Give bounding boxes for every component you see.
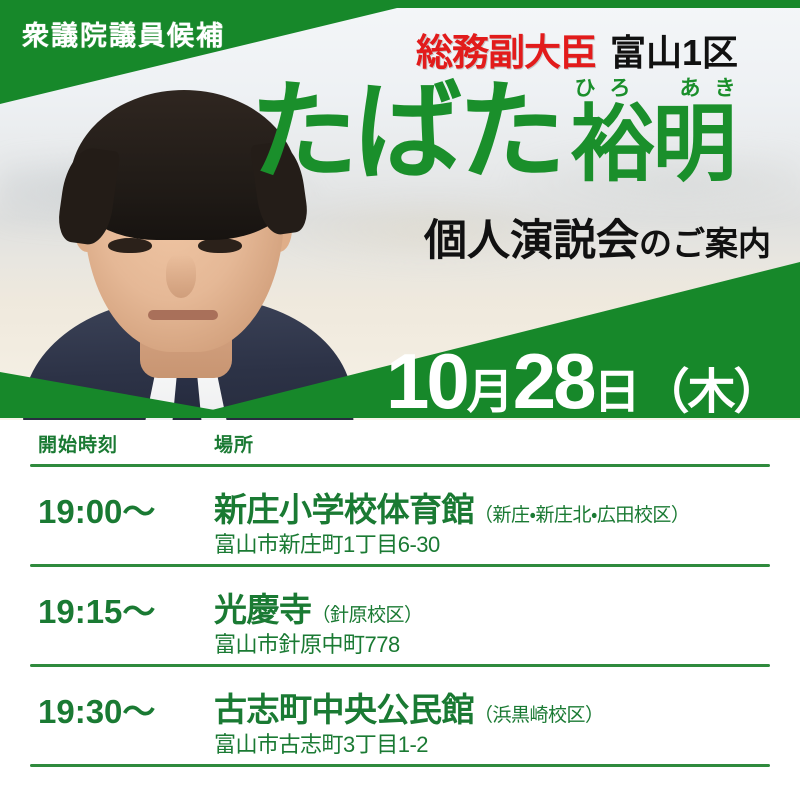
schedule-row-address: 富山市新庄町1丁目6-30 <box>214 527 440 559</box>
portrait-eye-left <box>108 238 152 253</box>
schedule-row-address: 富山市古志町3丁目1-2 <box>214 727 428 759</box>
schedule-row-venue-name: 光慶寺 <box>214 591 312 628</box>
schedule-divider <box>30 764 770 767</box>
schedule-row-venue-area: （浜黒崎校区） <box>474 705 604 726</box>
campaign-poster: 衆議院議員候補 総務副大臣 富山1区 たばた ひろ あき 裕明 個人演説会のご案… <box>0 0 800 800</box>
portrait-nose <box>166 254 196 298</box>
post-and-district: 総務副大臣 富山1区 <box>416 22 738 76</box>
table-row: 19:15〜 光慶寺（針原校区） 富山市針原中町778 <box>0 567 800 664</box>
schedule-row-time: 19:00〜 <box>38 485 155 533</box>
candidate-name-kanji: 裕明 <box>570 102 734 186</box>
candidate-name-kanji-block: ひろ あき 裕明 <box>570 78 734 186</box>
candidate-name-furigana: ひろ あき <box>574 72 749 102</box>
green-top-edge-strip <box>0 0 800 8</box>
event-date: 10月28日（木） <box>386 342 780 420</box>
schedule-row-time: 19:15〜 <box>38 585 155 633</box>
post-title: 総務副大臣 <box>416 22 596 76</box>
hero-section: 衆議院議員候補 総務副大臣 富山1区 たばた ひろ あき 裕明 個人演説会のご案… <box>0 0 800 420</box>
schedule-row-venue: 新庄小学校体育館（新庄・新庄北・広田校区） <box>214 483 689 531</box>
event-title-main: 個人演説会 <box>424 217 639 265</box>
schedule-row-venue-area: （新庄・新庄北・広田校区） <box>474 505 689 526</box>
event-date-weekday: （木） <box>642 369 780 417</box>
table-row: 19:00〜 新庄小学校体育館（新庄・新庄北・広田校区） 富山市新庄町1丁目6-… <box>0 467 800 564</box>
schedule-row-time: 19:30〜 <box>38 685 155 733</box>
schedule-column-header-time: 開始時刻 <box>38 430 118 457</box>
candidacy-label: 衆議院議員候補 <box>22 14 225 53</box>
schedule-column-header-place: 場所 <box>214 430 254 457</box>
schedule-row-venue: 光慶寺（針原校区） <box>214 583 423 631</box>
portrait-eye-right <box>198 238 242 253</box>
schedule-row-venue: 古志町中央公民館（浜黒崎校区） <box>214 683 604 731</box>
district-label: 富山1区 <box>610 24 738 76</box>
schedule-row-address: 富山市針原中町778 <box>214 627 400 659</box>
candidate-name-kana: たばた <box>250 78 562 186</box>
candidate-name: たばた ひろ あき 裕明 <box>250 78 734 186</box>
schedule-table: 開始時刻 場所 19:00〜 新庄小学校体育館（新庄・新庄北・広田校区） 富山市… <box>0 420 800 767</box>
schedule-row-venue-name: 新庄小学校体育館 <box>214 491 474 528</box>
table-row: 19:30〜 古志町中央公民館（浜黒崎校区） 富山市古志町3丁目1-2 <box>0 667 800 764</box>
schedule-row-venue-name: 古志町中央公民館 <box>214 691 474 728</box>
event-date-month-number: 10 <box>386 342 467 420</box>
event-title-sub: のご案内 <box>639 225 771 262</box>
schedule-header-row: 開始時刻 場所 <box>0 420 800 464</box>
event-date-month-unit: 月 <box>467 368 513 415</box>
schedule-row-venue-area: （針原校区） <box>312 605 423 626</box>
portrait-mouth <box>148 310 218 320</box>
event-title: 個人演説会のご案内 <box>424 206 771 268</box>
event-date-day-unit: 日 <box>594 368 640 415</box>
event-date-day-number: 28 <box>513 342 594 420</box>
